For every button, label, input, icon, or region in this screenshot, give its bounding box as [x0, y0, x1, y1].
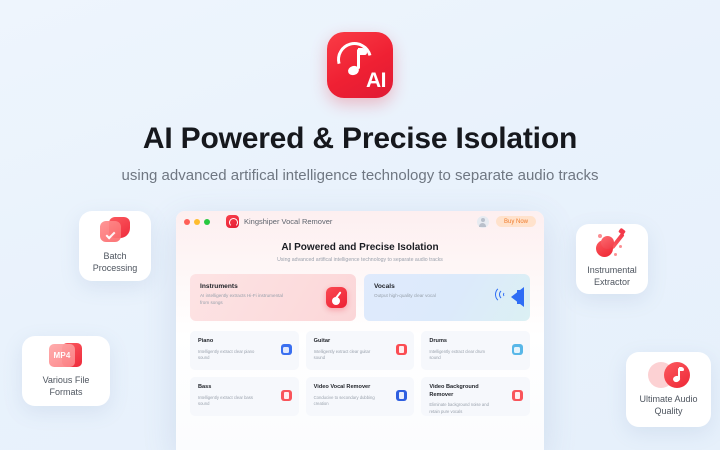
window-app-icon: [226, 215, 239, 228]
feature-desc: Eliminate background noise and retain pu…: [429, 402, 491, 415]
badge-caption: Various File Formats: [43, 375, 90, 398]
drums-icon: [512, 344, 523, 355]
badge-caption: Ultimate Audio Quality: [639, 394, 697, 417]
account-icon[interactable]: [477, 216, 489, 228]
window-subheading: Using advanced artifical intelligence te…: [176, 257, 544, 263]
feature-title: Bass: [198, 384, 266, 392]
feature-title: Video Vocal Remover: [314, 384, 382, 392]
app-logo-icon: AI: [327, 32, 393, 98]
audio-quality-icon: [648, 362, 690, 388]
badge-instrumental-extractor: Instrumental Extractor: [576, 224, 648, 294]
feature-tile-piano[interactable]: Piano Intelligently extract clear piano …: [190, 331, 299, 370]
page-subtitle: using advanced artifical intelligence te…: [0, 167, 720, 184]
window-app-title: Kingshiper Vocal Remover: [244, 217, 332, 226]
main-card-row: Instruments AI intelligently extracts Hi…: [190, 274, 530, 321]
bass-icon: [281, 390, 292, 401]
buy-now-button[interactable]: Buy Now: [496, 216, 536, 227]
piano-icon: [281, 344, 292, 355]
card-vocals[interactable]: Vocals Output high-quality clear vocal: [364, 274, 530, 321]
audio-note-flag: [679, 367, 684, 371]
guitar-icon: [396, 344, 407, 355]
logo-ai-label: AI: [366, 69, 386, 93]
feature-title: Piano: [198, 338, 266, 346]
badge-batch-processing: Batch Processing: [79, 211, 151, 281]
card-instruments[interactable]: Instruments AI intelligently extracts Hi…: [190, 274, 356, 321]
window-heading-text: AI Powered and Precise Isolation: [278, 242, 441, 253]
logo-note-flag: [358, 48, 367, 55]
feature-tile-guitar[interactable]: Guitar Intelligently extract clear guita…: [306, 331, 415, 370]
card-instruments-title: Instruments: [200, 283, 346, 290]
badge-caption-line2: Quality: [639, 406, 697, 418]
mp4-front-card: MP4: [49, 344, 75, 367]
feature-desc: Conducive to secondary dubbing creation: [314, 395, 376, 408]
card-vocals-desc: Output high-quality clear vocal: [374, 293, 459, 300]
feature-tile-video-background-remover[interactable]: Video Background Remover Eliminate backg…: [421, 377, 530, 416]
mp4-file-icon: MP4: [49, 343, 83, 369]
check-shape: [106, 230, 116, 240]
speaker-icon: [496, 284, 524, 310]
page-title: AI Powered & Precise Isolation: [0, 122, 720, 156]
badge-caption: Instrumental Extractor: [587, 265, 637, 288]
feature-title: Drums: [429, 338, 497, 346]
feature-desc: Intelligently extract clear drum sound: [429, 349, 491, 362]
video-background-icon: [512, 390, 523, 401]
badge-caption-line1: Batch: [93, 251, 138, 263]
sparkle-shape: [614, 253, 617, 256]
speaker-box-shape: [517, 290, 524, 304]
feature-desc: Intelligently extract clear guitar sound: [314, 349, 376, 362]
window-titlebar: Kingshiper Vocal Remover Buy Now: [176, 211, 544, 232]
feature-tile-drums[interactable]: Drums Intelligently extract clear drum s…: [421, 331, 530, 370]
badge-caption-line1: Various File: [43, 375, 90, 387]
badge-caption-line2: Extractor: [587, 277, 637, 289]
speaker-wave-1: [503, 292, 508, 297]
feature-grid: Piano Intelligently extract clear piano …: [190, 331, 530, 416]
sparkle-shape: [619, 245, 622, 248]
badge-caption-line1: Instrumental: [587, 265, 637, 277]
feature-desc: Intelligently extract clear bass sound: [198, 395, 260, 408]
feature-title: Guitar: [314, 338, 382, 346]
feature-tile-bass[interactable]: Bass Intelligently extract clear bass so…: [190, 377, 299, 416]
batch-check-icon: [100, 217, 130, 245]
minimize-icon[interactable]: [194, 219, 200, 225]
guitar-icon: [595, 229, 629, 259]
badge-ultimate-audio-quality: Ultimate Audio Quality: [626, 352, 711, 427]
video-vocal-icon: [396, 390, 407, 401]
batch-front-card: [100, 221, 121, 242]
card-instruments-desc: AI intelligently extracts Hi-Fi instrume…: [200, 293, 285, 307]
feature-title: Video Background Remover: [429, 384, 497, 399]
badge-caption-line2: Processing: [93, 263, 138, 275]
app-window: Kingshiper Vocal Remover Buy Now AI Powe…: [176, 211, 544, 450]
guitar-icon: [326, 287, 347, 308]
titlebar-actions: Buy Now: [477, 216, 536, 228]
promo-page: AI AI Powered & Precise Isolation using …: [0, 0, 720, 450]
traffic-lights: [184, 219, 210, 225]
feature-tile-video-vocal-remover[interactable]: Video Vocal Remover Conducive to seconda…: [306, 377, 415, 416]
badge-caption-line1: Ultimate Audio: [639, 394, 697, 406]
guitar-body-shape: [332, 297, 340, 305]
feature-desc: Intelligently extract clear piano sound: [198, 349, 260, 362]
maximize-icon[interactable]: [204, 219, 210, 225]
badge-caption: Batch Processing: [93, 251, 138, 274]
close-icon[interactable]: [184, 219, 190, 225]
badge-various-file-formats: MP4 Various File Formats: [22, 336, 110, 406]
window-heading: AI Powered and Precise Isolation: [176, 242, 544, 253]
badge-caption-line2: Formats: [43, 387, 90, 399]
mp4-label: MP4: [53, 351, 70, 360]
